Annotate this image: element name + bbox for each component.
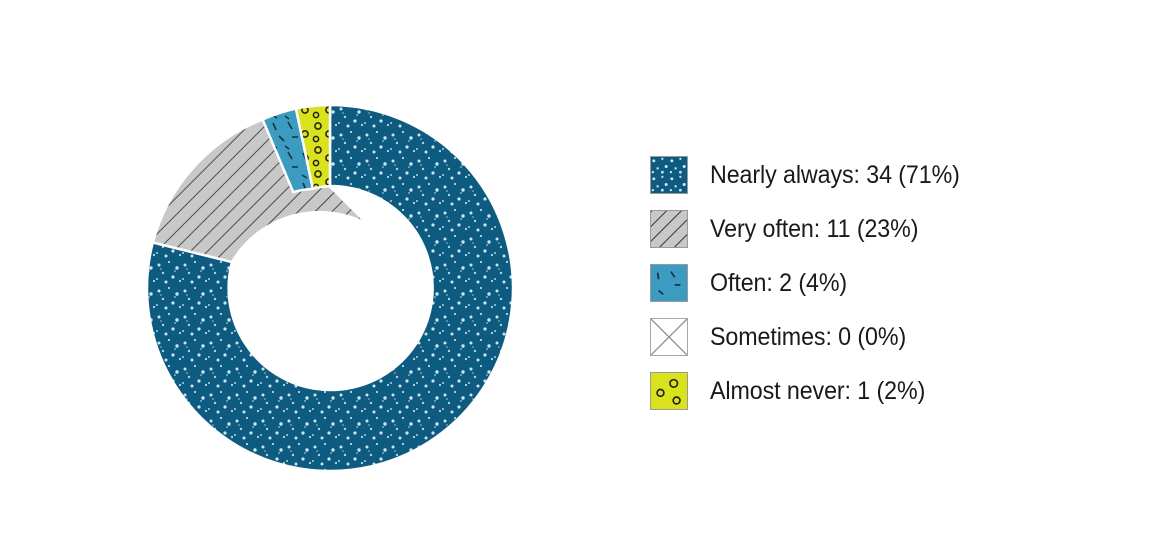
legend-item-often[interactable]: Often: 2 (4%) — [650, 263, 857, 303]
legend-label-sometimes: Sometimes: 0 (0%) — [710, 325, 906, 350]
swatch-dots-icon — [650, 156, 688, 194]
swatch-circles-icon — [650, 372, 688, 410]
swatch-diagonal-lines-icon — [650, 210, 688, 248]
swatch-dashes-icon — [650, 264, 688, 302]
legend-item-sometimes[interactable]: Sometimes: 0 (0%) — [650, 317, 921, 357]
chart-legend: Nearly always: 34 (71%) Very often: 11 (… — [640, 0, 1171, 544]
legend-label-nearly-always: Nearly always: 34 (71%) — [710, 163, 960, 188]
legend-item-nearly-always[interactable]: Nearly always: 34 (71%) — [650, 155, 979, 195]
legend-item-almost-never[interactable]: Almost never: 1 (2%) — [650, 371, 941, 411]
legend-item-very-often[interactable]: Very often: 11 (23%) — [650, 209, 934, 249]
legend-label-often: Often: 2 (4%) — [710, 271, 847, 296]
donut-chart-plot — [0, 0, 640, 544]
donut-chart-svg — [0, 0, 640, 544]
donut-slices — [147, 105, 513, 471]
donut-chart-figure: Nearly always: 34 (71%) Very often: 11 (… — [0, 0, 1171, 544]
legend-label-very-often: Very often: 11 (23%) — [710, 217, 918, 242]
legend-label-almost-never: Almost never: 1 (2%) — [710, 379, 925, 404]
swatch-cross-icon — [650, 318, 688, 356]
